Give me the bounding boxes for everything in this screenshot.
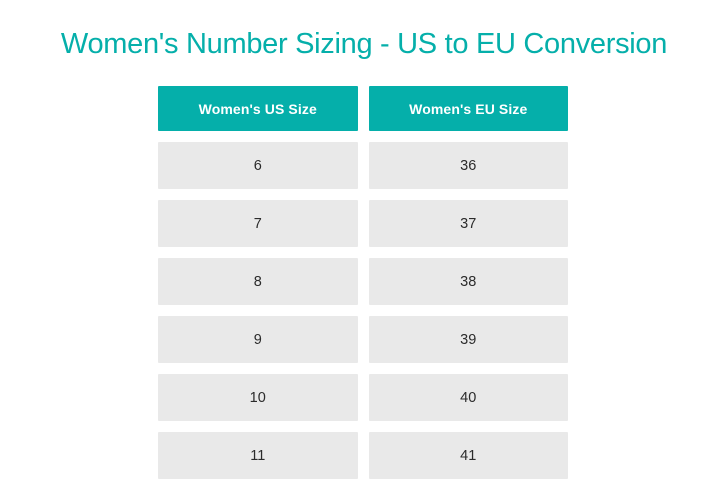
cell-us-size: 9: [158, 316, 358, 363]
table-row: 10 40: [158, 374, 568, 421]
column-header-us-size: Women's US Size: [158, 86, 358, 131]
table-row: 11 41: [158, 432, 568, 479]
cell-us-size: 7: [158, 200, 358, 247]
table-header-row: Women's US Size Women's EU Size: [158, 86, 568, 131]
cell-eu-size: 36: [369, 142, 569, 189]
cell-eu-size: 38: [369, 258, 569, 305]
cell-eu-size: 41: [369, 432, 569, 479]
table-row: 6 36: [158, 142, 568, 189]
size-conversion-table: Women's US Size Women's EU Size 6 36 7 3…: [158, 86, 568, 479]
cell-us-size: 6: [158, 142, 358, 189]
cell-us-size: 11: [158, 432, 358, 479]
page-title: Women's Number Sizing - US to EU Convers…: [0, 27, 728, 61]
cell-us-size: 10: [158, 374, 358, 421]
cell-eu-size: 40: [369, 374, 569, 421]
column-header-eu-size: Women's EU Size: [369, 86, 569, 131]
table-row: 7 37: [158, 200, 568, 247]
table-row: 9 39: [158, 316, 568, 363]
cell-eu-size: 37: [369, 200, 569, 247]
cell-eu-size: 39: [369, 316, 569, 363]
cell-us-size: 8: [158, 258, 358, 305]
size-conversion-page: Women's Number Sizing - US to EU Convers…: [0, 0, 728, 501]
table-row: 8 38: [158, 258, 568, 305]
